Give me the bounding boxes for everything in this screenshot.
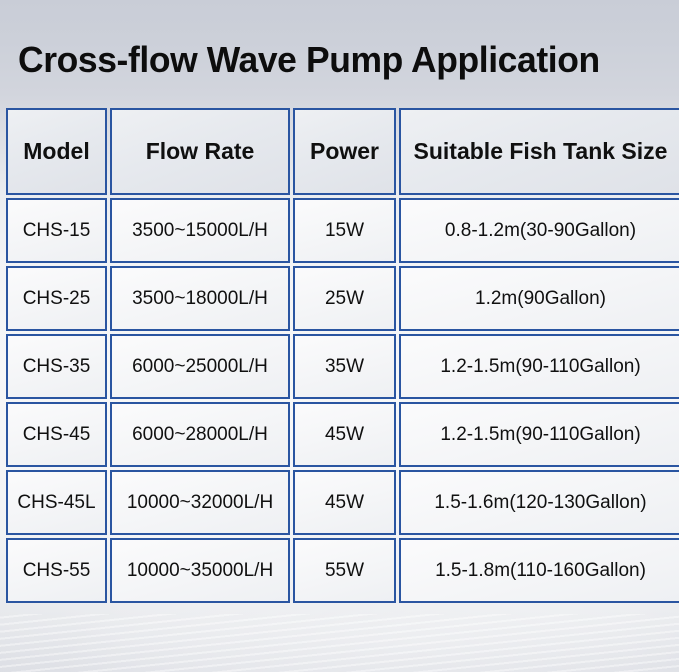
cell-tank-size: 1.2m(90Gallon) [399,266,679,331]
column-header-tank-size: Suitable Fish Tank Size [399,108,679,195]
cell-power: 55W [293,538,396,603]
cell-tank-size: 1.2-1.5m(90-110Gallon) [399,402,679,467]
table-row: CHS-45L 10000~32000L/H 45W 1.5-1.6m(120-… [6,470,679,535]
cell-tank-size: 0.8-1.2m(30-90Gallon) [399,198,679,263]
cell-power: 45W [293,470,396,535]
table-row: CHS-45 6000~28000L/H 45W 1.2-1.5m(90-110… [6,402,679,467]
table-row: CHS-55 10000~35000L/H 55W 1.5-1.8m(110-1… [6,538,679,603]
cell-model: CHS-25 [6,266,107,331]
cell-power: 15W [293,198,396,263]
background-wave-lines [0,614,679,672]
table-row: CHS-35 6000~25000L/H 35W 1.2-1.5m(90-110… [6,334,679,399]
cell-flow-rate: 3500~15000L/H [110,198,290,263]
cell-tank-size: 1.5-1.6m(120-130Gallon) [399,470,679,535]
cell-flow-rate: 10000~35000L/H [110,538,290,603]
cell-power: 25W [293,266,396,331]
cell-flow-rate: 10000~32000L/H [110,470,290,535]
column-header-flow-rate: Flow Rate [110,108,290,195]
specification-table: Model Flow Rate Power Suitable Fish Tank… [3,105,679,606]
table-header-row: Model Flow Rate Power Suitable Fish Tank… [6,108,679,195]
column-header-model: Model [6,108,107,195]
page-title: Cross-flow Wave Pump Application [18,38,656,82]
cell-model: CHS-55 [6,538,107,603]
cell-power: 45W [293,402,396,467]
cell-flow-rate: 6000~28000L/H [110,402,290,467]
cell-model: CHS-35 [6,334,107,399]
table-row: CHS-25 3500~18000L/H 25W 1.2m(90Gallon) [6,266,679,331]
cell-tank-size: 1.5-1.8m(110-160Gallon) [399,538,679,603]
cell-tank-size: 1.2-1.5m(90-110Gallon) [399,334,679,399]
cell-model: CHS-45L [6,470,107,535]
cell-power: 35W [293,334,396,399]
product-spec-page: Cross-flow Wave Pump Application Model F… [0,0,679,672]
column-header-power: Power [293,108,396,195]
table-body: CHS-15 3500~15000L/H 15W 0.8-1.2m(30-90G… [6,198,679,603]
cell-flow-rate: 3500~18000L/H [110,266,290,331]
cell-flow-rate: 6000~25000L/H [110,334,290,399]
cell-model: CHS-45 [6,402,107,467]
table-header: Model Flow Rate Power Suitable Fish Tank… [6,108,679,195]
table-row: CHS-15 3500~15000L/H 15W 0.8-1.2m(30-90G… [6,198,679,263]
cell-model: CHS-15 [6,198,107,263]
